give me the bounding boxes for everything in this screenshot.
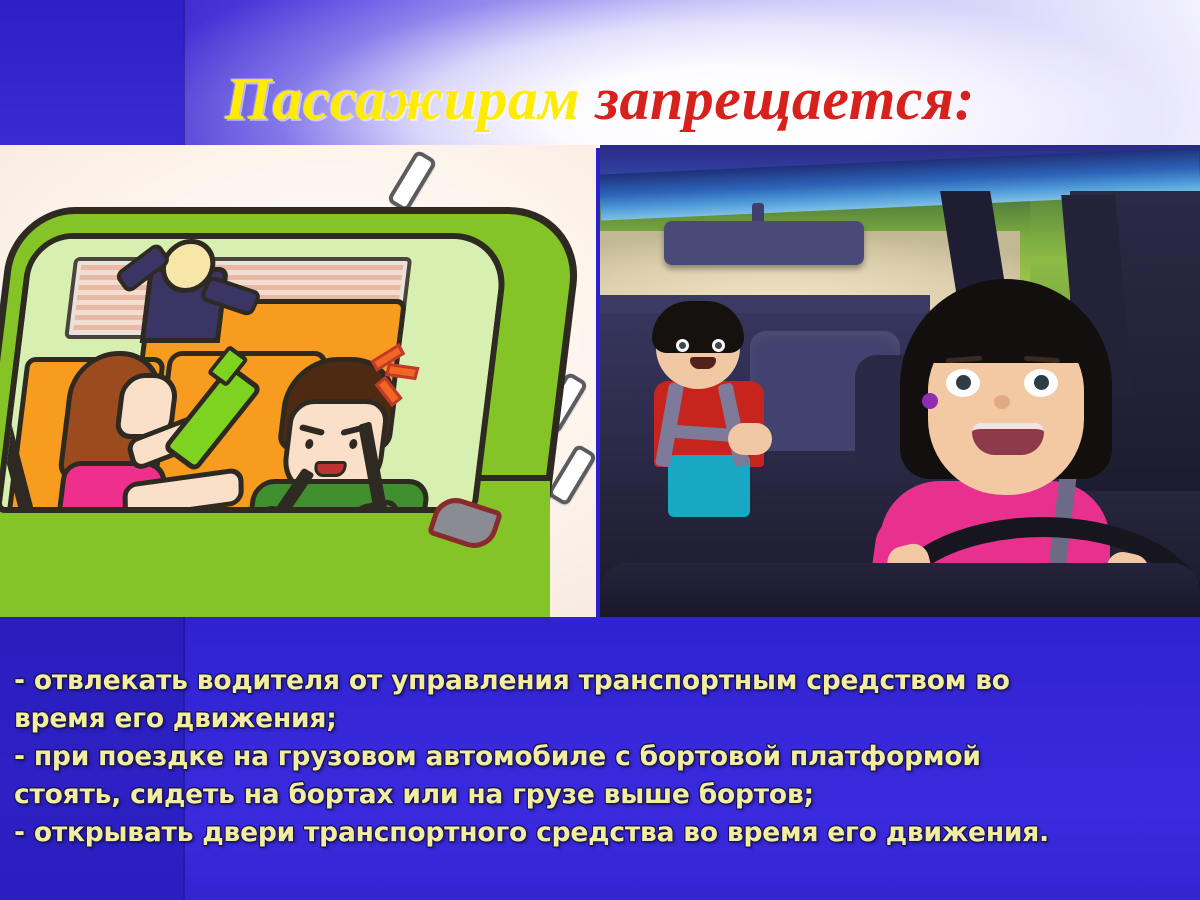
right-illustration: [600, 145, 1200, 617]
driver-torso: [237, 479, 431, 513]
prohibition-line: - открывать двери транспортного средства…: [14, 814, 1194, 852]
title-red-part: запрещается:: [580, 66, 975, 132]
woman-smile: [972, 423, 1044, 455]
prohibition-line: время его движения;: [14, 700, 1194, 738]
rear-view-mirror: [664, 221, 864, 265]
woman-pupil-right: [1034, 375, 1049, 390]
car-windshield: [0, 233, 511, 513]
car-dashboard: [600, 563, 1200, 617]
slide-root: Пассажирам запрещается:: [0, 0, 1200, 900]
boy-arm: [728, 423, 772, 455]
title-yellow-part: Пассажирам: [225, 66, 580, 132]
left-illustration: [0, 145, 596, 617]
woman-earring: [922, 393, 938, 409]
boy-pupil-right: [715, 342, 722, 349]
slide-title: Пассажирам запрещается:: [0, 60, 1200, 140]
prohibition-list: - отвлекать водителя от управления транс…: [14, 662, 1194, 852]
boy-hair: [652, 301, 744, 353]
woman-driver-bangs: [920, 301, 1096, 363]
woman-pupil-left: [956, 375, 971, 390]
prohibition-line: - отвлекать водителя от управления транс…: [14, 662, 1194, 700]
prohibition-line: стоять, сидеть на бортах или на грузе вы…: [14, 776, 1194, 814]
woman-nose: [994, 395, 1010, 409]
prohibition-line: - при поездке на грузовом автомобиле с б…: [14, 738, 1194, 776]
boy-mouth: [690, 357, 716, 369]
boy-pupil-left: [679, 342, 686, 349]
